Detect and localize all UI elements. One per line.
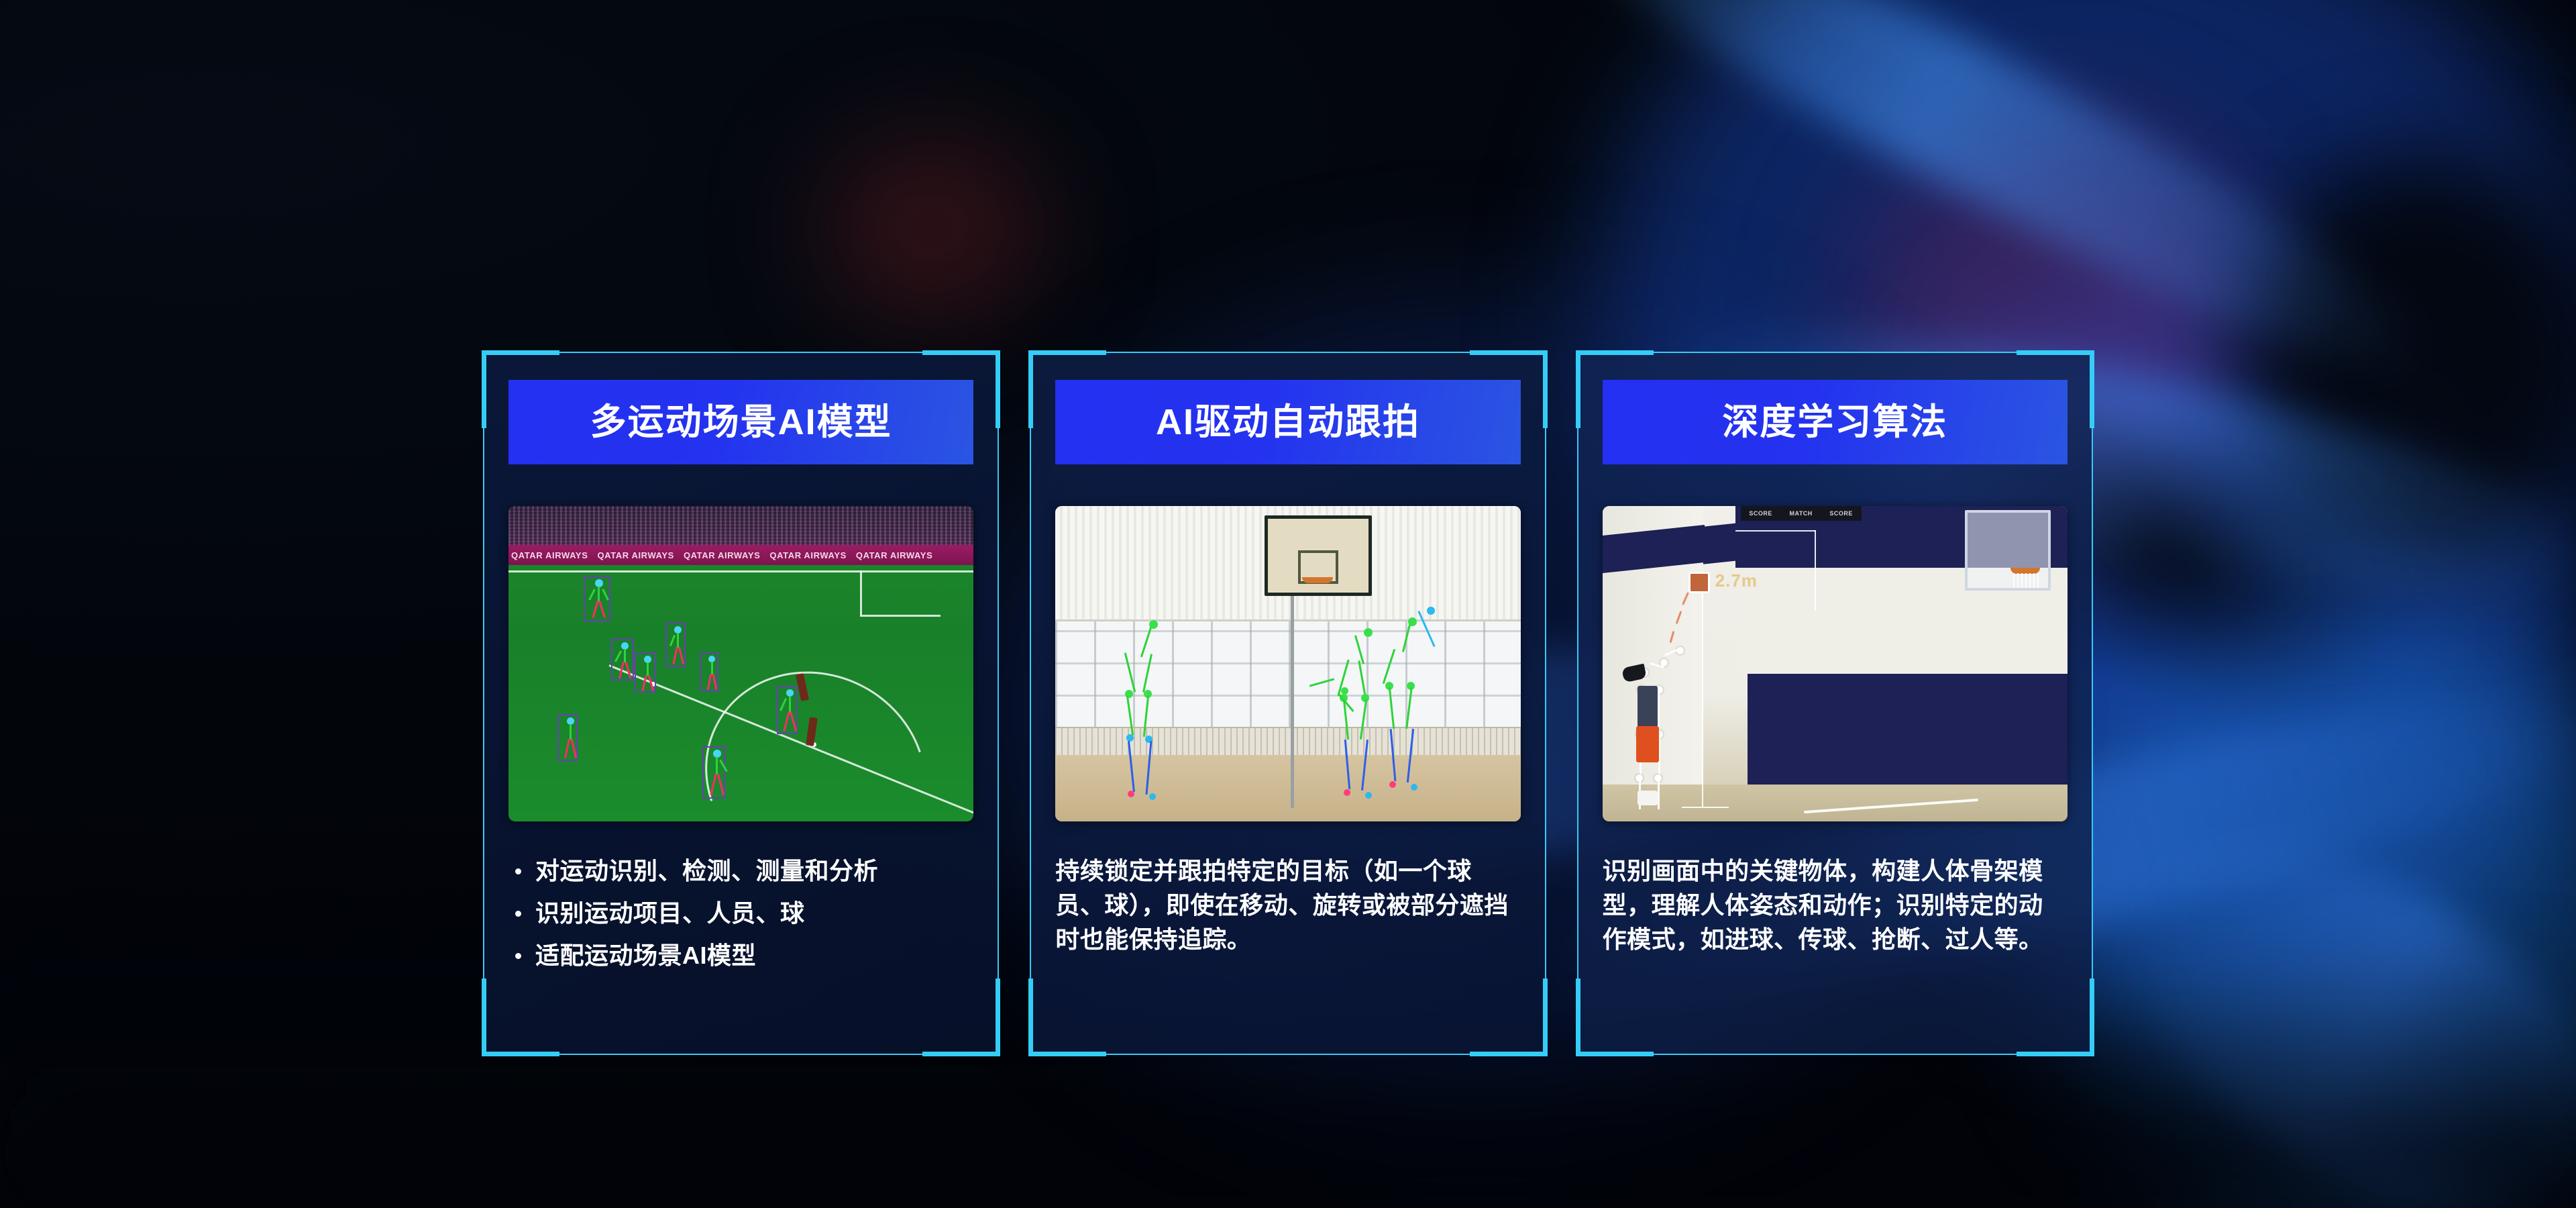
feature-card-1[interactable]: 多运动场景AI模型 QATAR AIRWAYS QATAR AIRWAYS QA… bbox=[483, 352, 999, 1055]
card-1-body: 对运动识别、检测、测量和分析 识别运动项目、人员、球 适配运动场景AI模型 bbox=[508, 854, 973, 972]
bg-streak-bottom-arc bbox=[2075, 778, 2576, 1208]
player-skeleton-3 bbox=[614, 642, 631, 677]
basketball-net-right bbox=[2013, 573, 2039, 588]
wall-pad-lower bbox=[1748, 674, 2068, 785]
ad-banner-text-5: QATAR AIRWAYS bbox=[856, 550, 932, 560]
card-1-bullet-list: 对运动识别、检测、测量和分析 识别运动项目、人员、球 适配运动场景AI模型 bbox=[508, 854, 973, 972]
ad-banner-text-2: QATAR AIRWAYS bbox=[597, 550, 674, 560]
player-bbox-4 bbox=[635, 652, 656, 693]
basketball-rim bbox=[1302, 577, 1333, 583]
stadium-crowd bbox=[508, 506, 973, 549]
measure-height-line bbox=[1702, 587, 1703, 808]
player-torso bbox=[1638, 686, 1658, 727]
soccer-pose-detection-thumbnail: QATAR AIRWAYS QATAR AIRWAYS QATAR AIRWAY… bbox=[508, 506, 973, 821]
card-2-title-banner: AI驱动自动跟拍 bbox=[1055, 380, 1520, 464]
player-skeleton-8 bbox=[706, 750, 722, 795]
pitch-line-goal-horizontal bbox=[860, 615, 941, 617]
feature-card-group: 多运动场景AI模型 QATAR AIRWAYS QATAR AIRWAYS QA… bbox=[483, 352, 2093, 1055]
bg-glow-deep-shadow bbox=[2234, 154, 2576, 584]
scoreboard-label-left: SCORE bbox=[1749, 510, 1772, 517]
player-bbox-1 bbox=[584, 576, 610, 621]
distance-label: 2.7m bbox=[1715, 570, 1758, 591]
player-skeleton-right-3 bbox=[1316, 664, 1376, 745]
pitch-line-goal-vertical bbox=[860, 570, 862, 616]
card-3-title-banner: 深度学习算法 bbox=[1603, 380, 2068, 464]
card-3-body: 识别画面中的关键物体，构建人体骨架模型，理解人体姿态和动作；识别特定的动作模式，… bbox=[1603, 854, 2068, 956]
card-2-body: 持续锁定并跟拍特定的目标（如一个球员、球），即使在移动、旋转或被部分遮挡时也能保… bbox=[1055, 854, 1520, 956]
player-skeleton-4 bbox=[638, 656, 653, 689]
player-bbox-7 bbox=[557, 714, 578, 761]
player-skeleton-7 bbox=[561, 717, 574, 758]
player-bbox-8 bbox=[702, 746, 725, 799]
advertising-board: QATAR AIRWAYS QATAR AIRWAYS QATAR AIRWAY… bbox=[508, 545, 973, 565]
card-3-title: 深度学习算法 bbox=[1722, 404, 1947, 440]
player-socks bbox=[1638, 791, 1658, 805]
player-bbox-5 bbox=[700, 652, 718, 691]
ad-banner-text-3: QATAR AIRWAYS bbox=[684, 550, 760, 560]
player-skeleton-right-2 bbox=[1371, 617, 1451, 815]
list-item: 对运动识别、检测、测量和分析 bbox=[508, 854, 973, 888]
feature-card-3[interactable]: 深度学习算法 SCORE MATCH SCORE bbox=[1577, 352, 2093, 1055]
player-skeleton-6 bbox=[780, 689, 794, 731]
player-skeleton-1 bbox=[587, 579, 607, 618]
indoor-court-shot-analysis-thumbnail: SCORE MATCH SCORE 2.7m bbox=[1603, 506, 2068, 821]
ad-banner-text-4: QATAR AIRWAYS bbox=[769, 550, 846, 560]
pitch-line-top bbox=[508, 570, 973, 572]
player-bbox-6 bbox=[777, 686, 797, 734]
hoop-support-pole bbox=[1291, 587, 1294, 808]
basketball-gym-pose-tracking-thumbnail bbox=[1055, 506, 1520, 821]
list-item: 适配运动场景AI模型 bbox=[508, 938, 973, 972]
measure-vertical-line bbox=[1815, 530, 1816, 611]
player-skeleton-2 bbox=[669, 626, 682, 664]
card-2-title: AI驱动自动跟拍 bbox=[1156, 404, 1420, 440]
measure-top-line bbox=[1735, 530, 1816, 532]
ad-banner-text-1: QATAR AIRWAYS bbox=[511, 550, 588, 560]
feature-card-2[interactable]: AI驱动自动跟拍 bbox=[1030, 352, 1546, 1055]
bg-glow-red-accent bbox=[825, 141, 1040, 315]
list-item: 识别运动项目、人员、球 bbox=[508, 896, 973, 930]
bg-glow-cyan bbox=[2046, 604, 2576, 1208]
ball-tracking-box bbox=[1688, 572, 1710, 593]
player-bbox-2 bbox=[665, 623, 686, 667]
card-1-title: 多运动场景AI模型 bbox=[590, 404, 892, 440]
player-bbox-3 bbox=[611, 639, 634, 681]
scoreboard: SCORE MATCH SCORE bbox=[1741, 506, 1862, 521]
card-1-title-banner: 多运动场景AI模型 bbox=[508, 380, 973, 464]
player-skeleton-left bbox=[1116, 620, 1189, 815]
player-shorts bbox=[1636, 726, 1659, 762]
scoreboard-label-right: SCORE bbox=[1829, 510, 1853, 517]
scoreboard-label-mid: MATCH bbox=[1789, 510, 1812, 517]
player-skeleton-5 bbox=[703, 656, 715, 688]
